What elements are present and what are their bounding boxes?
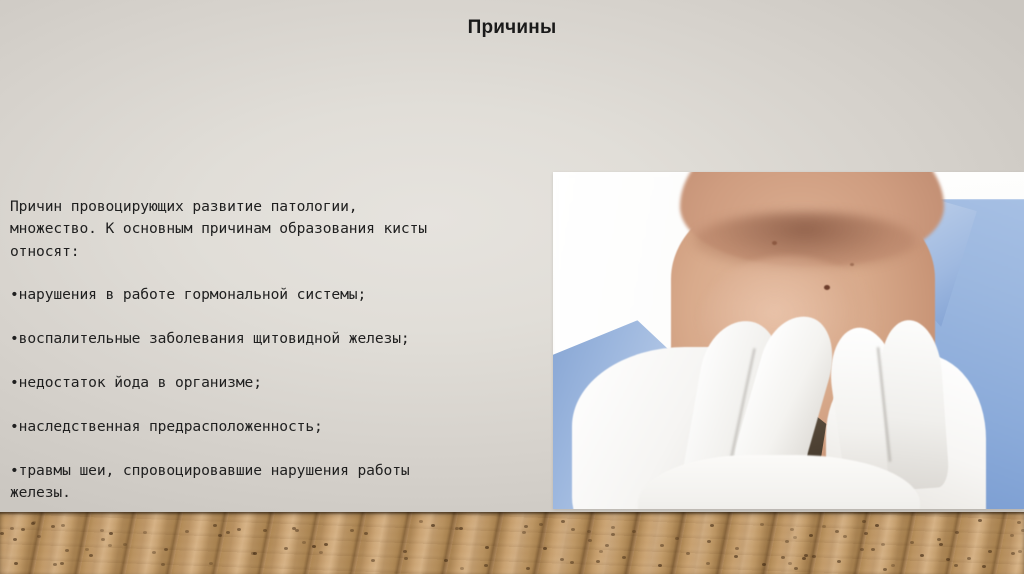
wood-knot: [364, 532, 368, 535]
wood-knot: [793, 536, 797, 539]
wood-knot: [101, 538, 105, 541]
wood-knot: [599, 550, 603, 553]
wood-knot: [781, 556, 785, 559]
wood-knot: [939, 543, 943, 546]
wood-knot: [571, 528, 575, 531]
wood-knot: [263, 529, 267, 532]
wood-knot: [61, 524, 65, 527]
wood-knot: [524, 525, 528, 528]
wood-knot: [706, 562, 710, 565]
wood-knot: [561, 520, 565, 523]
wood-knot: [686, 552, 690, 555]
wood-knot: [213, 524, 217, 527]
thyroid-examination-photo: [553, 172, 1024, 509]
wood-knot: [982, 565, 986, 568]
intro-paragraph: Причин провоцирующих развитие патологии,…: [10, 196, 556, 263]
list-item: •наследственная предрасположенность;: [10, 416, 556, 438]
wood-knot: [1011, 552, 1015, 555]
wood-knot: [660, 544, 664, 547]
wood-knot: [484, 564, 488, 567]
wood-knot: [794, 567, 798, 570]
wood-knot: [1010, 534, 1014, 537]
wood-knot: [864, 532, 868, 535]
wood-knot: [455, 527, 459, 530]
wood-knot: [822, 525, 826, 528]
wood-knot: [835, 530, 839, 533]
wood-knot: [312, 545, 316, 548]
wood-knot: [804, 554, 808, 557]
wood-knot: [485, 546, 489, 549]
wood-knot: [937, 538, 941, 541]
wood-knot: [253, 552, 257, 555]
skin-mole: [824, 285, 830, 290]
wood-knot: [295, 529, 299, 532]
wood-knot: [881, 543, 885, 546]
wood-knot: [431, 524, 435, 527]
wood-knot: [588, 539, 592, 542]
wood-knot: [403, 550, 407, 553]
wood-knot: [60, 562, 64, 565]
wood-knot: [785, 540, 789, 543]
wood-knot: [762, 563, 766, 566]
wood-knot: [910, 541, 914, 544]
wood-knot: [946, 558, 950, 561]
wood-knot: [596, 560, 600, 563]
wood-knot: [611, 526, 615, 529]
wood-top-edge: [0, 512, 1024, 515]
wood-knot: [605, 544, 609, 547]
wood-knot: [284, 547, 288, 550]
body-text-block: Причин провоцирующих развитие патологии,…: [10, 196, 556, 505]
page-title: Причины: [0, 17, 1024, 39]
wood-knot: [1018, 550, 1022, 553]
wood-knot: [967, 557, 971, 560]
wood-knot: [522, 531, 526, 534]
wood-knot: [988, 550, 992, 553]
wood-knot: [108, 544, 112, 547]
wood-knot: [14, 562, 18, 565]
wood-knot: [570, 561, 574, 564]
list-item: •нарушения в работе гормональной системы…: [10, 284, 556, 306]
wood-knot: [419, 520, 423, 523]
wood-knot: [89, 554, 93, 557]
wood-knot: [226, 531, 230, 534]
wood-knot: [444, 559, 448, 562]
wood-knot: [809, 534, 813, 537]
wooden-floor-strip: [0, 512, 1024, 574]
wood-knot: [734, 555, 738, 558]
list-item: •воспалительные заболевания щитовидной ж…: [10, 328, 556, 350]
wood-knot: [862, 520, 866, 523]
wood-knot: [587, 530, 591, 533]
wood-knot: [760, 523, 764, 526]
wood-knot: [161, 563, 165, 566]
wood-knot: [85, 548, 89, 551]
wood-knot: [164, 548, 168, 551]
wood-knots: [0, 512, 1024, 574]
wood-knot: [152, 551, 156, 554]
wood-knot: [237, 528, 241, 531]
wood-knot: [350, 529, 354, 532]
wood-knot: [978, 519, 982, 522]
wood-knot: [955, 531, 959, 534]
wood-knot: [539, 523, 543, 526]
wood-knot: [143, 531, 147, 534]
wood-knot: [622, 556, 626, 559]
wood-knot: [65, 549, 69, 552]
wood-knot: [710, 524, 714, 527]
wood-knot: [543, 547, 547, 550]
wood-knot: [812, 555, 816, 558]
wood-knot: [788, 562, 792, 565]
list-item: •травмы шеи, спровоцировавшие нарушения …: [10, 460, 556, 505]
wood-knot: [658, 564, 662, 567]
wood-knot: [53, 563, 57, 566]
wood-knot: [837, 560, 841, 563]
wood-knot: [218, 534, 222, 537]
wood-knot: [10, 527, 14, 530]
wood-knot: [13, 538, 17, 541]
wood-knot: [891, 564, 895, 567]
wood-knot: [860, 548, 864, 551]
wood-knot: [100, 529, 104, 532]
wood-knot: [843, 535, 847, 538]
wood-knot: [875, 524, 879, 527]
slide-canvas: Причины Причин провоцирующих развитие па…: [0, 0, 1024, 574]
wood-knot: [123, 543, 127, 546]
wood-knot: [632, 530, 636, 533]
wood-knot: [460, 567, 464, 570]
wood-knot: [954, 564, 958, 567]
wood-knot: [21, 528, 25, 531]
wood-knot: [109, 532, 113, 535]
wood-knot: [1017, 521, 1021, 524]
wood-knot: [871, 548, 875, 551]
wood-knot: [51, 525, 55, 528]
wood-knot: [324, 543, 328, 546]
wood-knot: [302, 541, 306, 544]
wood-knot: [185, 530, 189, 533]
wood-knot: [0, 532, 4, 535]
wood-knot: [32, 521, 36, 524]
wood-knot: [209, 562, 213, 565]
wood-knot: [560, 558, 564, 561]
wood-knot: [735, 547, 739, 550]
wood-knot: [37, 535, 41, 538]
wood-knot: [371, 559, 375, 562]
wood-knot: [920, 554, 924, 557]
wood-knot: [802, 557, 806, 560]
wood-knot: [459, 527, 463, 530]
wood-knot: [707, 540, 711, 543]
wood-knot: [319, 551, 323, 554]
wood-knot: [611, 533, 615, 536]
wood-knot: [883, 568, 887, 571]
wood-knot: [404, 557, 408, 560]
photo-inner: [553, 172, 1024, 509]
wood-knot: [526, 567, 530, 570]
skin-mole: [850, 263, 854, 266]
wood-knot: [790, 528, 794, 531]
wood-knot: [675, 537, 679, 540]
list-item: •недостаток йода в организме;: [10, 372, 556, 394]
